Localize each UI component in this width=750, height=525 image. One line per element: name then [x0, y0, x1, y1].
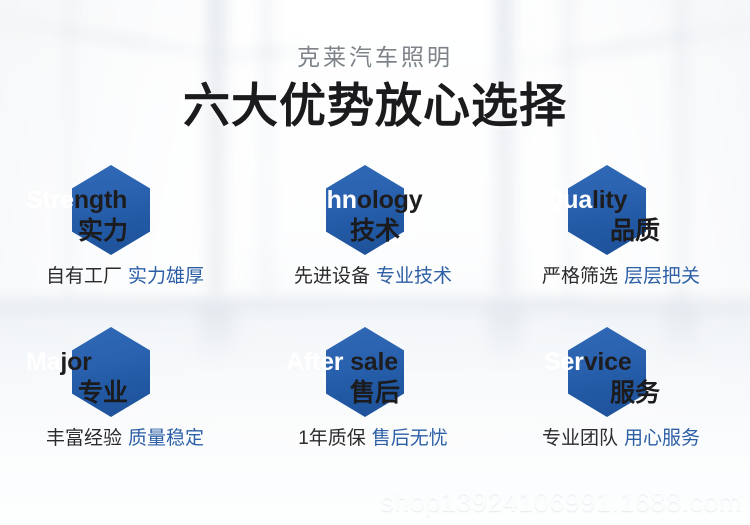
caption-secondary: 专业技术 [376, 266, 452, 287]
caption-primary: 1年质保 [298, 428, 366, 449]
feature-caption: 1年质保售后无忧 [248, 426, 498, 452]
caption-primary: 自有工厂 [46, 266, 122, 287]
header-block: 克莱汽车照明 六大优势放心选择 [0, 42, 750, 134]
caption-secondary: 实力雄厚 [128, 266, 204, 287]
english-off-hex: vice [584, 348, 632, 376]
caption-secondary: 质量稳定 [128, 428, 204, 449]
caption-primary: 先进设备 [294, 266, 370, 287]
feature-english-label: Service [544, 348, 750, 376]
feature-chinese-label: 品质 [544, 216, 750, 246]
feature-caption: 丰富经验质量稳定 [0, 426, 250, 452]
badge-text-group: Technology 技术 [286, 186, 536, 246]
badge-text-group: Major 专业 [26, 348, 276, 408]
feature-chinese-label: 技术 [286, 216, 536, 246]
feature-caption: 专业团队用心服务 [496, 426, 746, 452]
feature-row-bottom: Major 专业 丰富经验质量稳定 After sale 售后 1年质保售后无忧 [0, 322, 750, 462]
feature-badge: Strength 实力 [0, 160, 250, 260]
feature-english-label: Quality [544, 186, 750, 214]
badge-text-group: Service 服务 [544, 348, 750, 408]
feature-card-after-sale[interactable]: After sale 售后 1年质保售后无忧 [248, 322, 498, 462]
feature-chinese-label: 实力 [26, 216, 276, 246]
english-off-hex: ngth [74, 186, 127, 214]
feature-badge: Technology 技术 [248, 160, 498, 260]
english-on-hex: After [286, 348, 343, 376]
caption-primary: 丰富经验 [46, 428, 122, 449]
feature-card-strength[interactable]: Strength 实力 自有工厂实力雄厚 [0, 160, 250, 300]
feature-english-label: After sale [286, 348, 536, 376]
caption-secondary: 层层把关 [624, 266, 700, 287]
english-on-hex: Ser [544, 348, 584, 376]
promo-banner: 克莱汽车照明 六大优势放心选择 Strength 实力 自有工厂实力雄厚 [0, 0, 750, 525]
feature-english-label: Technology [286, 186, 536, 214]
feature-chinese-label: 服务 [544, 378, 750, 408]
feature-chinese-label: 售后 [286, 378, 536, 408]
english-on-hex: Ma [26, 348, 60, 376]
caption-secondary: 用心服务 [624, 428, 700, 449]
feature-badge: After sale 售后 [248, 322, 498, 422]
badge-text-group: Strength 实力 [26, 186, 276, 246]
english-on-hex: Techn [286, 186, 357, 214]
feature-caption: 严格筛选层层把关 [496, 264, 746, 290]
feature-caption: 自有工厂实力雄厚 [0, 264, 250, 290]
feature-english-label: Major [26, 348, 276, 376]
feature-badge: Major 专业 [0, 322, 250, 422]
english-off-hex: jor [60, 348, 91, 376]
english-on-hex: Qua [544, 186, 592, 214]
caption-primary: 专业团队 [542, 428, 618, 449]
english-on-hex: Stre [26, 186, 74, 214]
english-off-hex: sale [343, 348, 398, 376]
feature-chinese-label: 专业 [26, 378, 276, 408]
caption-primary: 严格筛选 [542, 266, 618, 287]
caption-secondary: 售后无忧 [372, 428, 448, 449]
english-off-hex: ology [357, 186, 423, 214]
page-title: 六大优势放心选择 [0, 78, 750, 134]
feature-grid: Strength 实力 自有工厂实力雄厚 Technology 技术 先进设备专… [0, 160, 750, 462]
english-off-hex: lity [592, 186, 627, 214]
feature-row-top: Strength 实力 自有工厂实力雄厚 Technology 技术 先进设备专… [0, 160, 750, 300]
feature-english-label: Strength [26, 186, 276, 214]
badge-text-group: Quality 品质 [544, 186, 750, 246]
badge-text-group: After sale 售后 [286, 348, 536, 408]
feature-caption: 先进设备专业技术 [248, 264, 498, 290]
feature-card-major[interactable]: Major 专业 丰富经验质量稳定 [0, 322, 250, 462]
feature-card-technology[interactable]: Technology 技术 先进设备专业技术 [248, 160, 498, 300]
brand-subtitle: 克莱汽车照明 [0, 42, 750, 72]
